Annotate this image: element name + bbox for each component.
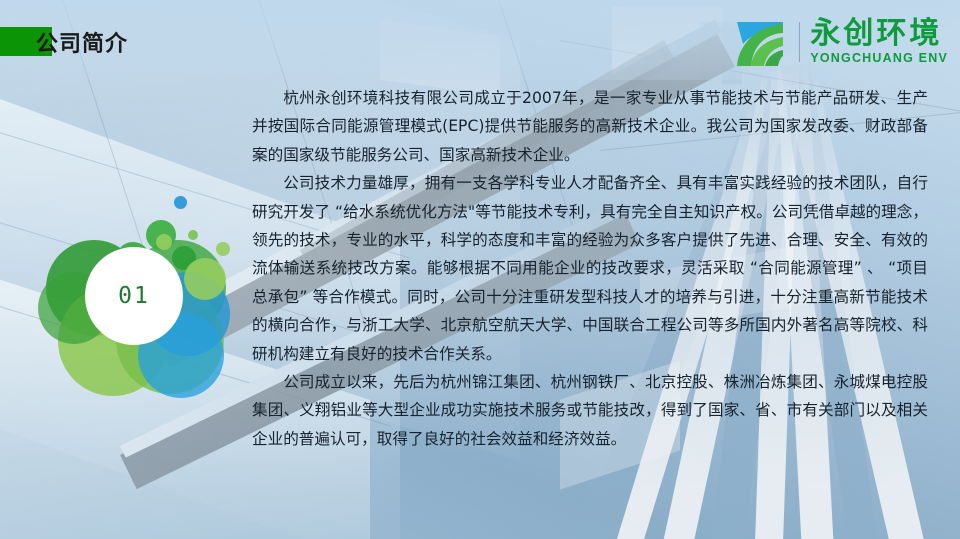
badge-number: 01 xyxy=(118,283,150,309)
company-logo: 永创环境 YONGCHUANG ENV xyxy=(731,16,948,68)
deco-bubble xyxy=(174,196,187,209)
logo-wordmark: 永创环境 YONGCHUANG ENV xyxy=(810,19,948,65)
deco-bubble xyxy=(188,230,198,240)
decorative-circle-cluster: 01 xyxy=(38,200,248,410)
badge-circle: 01 xyxy=(85,247,183,345)
body-paragraph-1: 杭州永创环境科技有限公司成立于2007年，是一家专业从事节能技术与节能产品研发、… xyxy=(252,84,928,169)
deco-bubble xyxy=(216,242,230,256)
body-copy: 杭州永创环境科技有限公司成立于2007年，是一家专业从事节能技术与节能产品研发、… xyxy=(252,84,928,453)
logo-divider xyxy=(799,22,800,62)
leaf-wave-logo-icon xyxy=(731,16,789,68)
deco-bubble xyxy=(156,234,172,250)
body-paragraph-2: 公司技术力量雄厚，拥有一支各学科专业人才配备齐全、具有丰富实践经验的技术团队，自… xyxy=(252,169,928,368)
deco-bubble xyxy=(184,258,226,300)
logo-name-cn: 永创环境 xyxy=(810,19,948,49)
logo-name-en: YONGCHUANG ENV xyxy=(810,52,948,65)
slide-root: 公司简介 永创环境 YONGCHUANG ENV xyxy=(0,0,960,539)
body-paragraph-3: 公司成立以来，先后为杭州锦江集团、杭州钢铁厂、北京控股、株洲冶炼集团、永城煤电控… xyxy=(252,368,928,453)
page-title: 公司简介 xyxy=(36,26,128,58)
